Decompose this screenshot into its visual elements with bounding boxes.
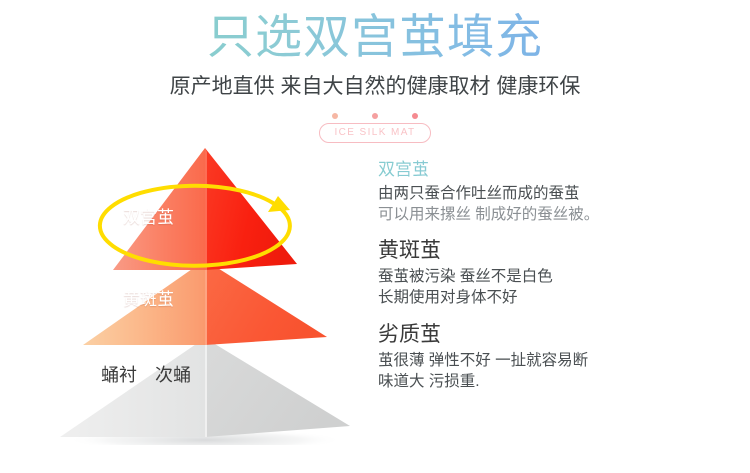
info-line: 蚕茧被污染 蚕丝不是白色 bbox=[378, 266, 678, 287]
pyramid-tier-middle bbox=[83, 260, 327, 345]
dot-icon-2 bbox=[372, 113, 378, 119]
info-line: 由两只蚕合作吐丝而成的蚕茧 bbox=[378, 183, 678, 204]
dot-icon-3 bbox=[412, 113, 418, 119]
info-heading: 双宫茧 bbox=[378, 158, 678, 182]
page-title: 只选双宫茧填充 bbox=[0, 8, 750, 66]
quality-pyramid-diagram: 双宫茧 黄斑茧 蛹衬次蛹 bbox=[35, 140, 365, 445]
info-section-liezhijian: 劣质茧 茧很薄 弹性不好 一扯就容易断 味道大 污损重. bbox=[378, 321, 678, 392]
pyramid-label-bottom-left: 蛹衬 bbox=[101, 365, 137, 385]
pyramid-label-middle: 黄斑茧 bbox=[123, 290, 174, 310]
pyramid-svg bbox=[35, 140, 365, 445]
promo-banner: 只选双宫茧填充 原产地直供 来自大自然的健康取材 健康环保 ICE SILK M… bbox=[0, 0, 750, 473]
info-line: 可以用来摞丝 制成好的蚕丝被。 bbox=[378, 204, 678, 225]
info-line: 长期使用对身体不好 bbox=[378, 287, 678, 308]
info-line: 味道大 污损重. bbox=[378, 371, 678, 392]
dot-icon-1 bbox=[332, 113, 338, 119]
info-section-shuanggongjian: 双宫茧 由两只蚕合作吐丝而成的蚕茧 可以用来摞丝 制成好的蚕丝被。 bbox=[378, 158, 678, 225]
pyramid-label-bottom: 蛹衬次蛹 bbox=[101, 365, 191, 385]
info-heading: 劣质茧 bbox=[378, 321, 678, 349]
info-line: 茧很薄 弹性不好 一扯就容易断 bbox=[378, 350, 678, 371]
info-column: 双宫茧 由两只蚕合作吐丝而成的蚕茧 可以用来摞丝 制成好的蚕丝被。 黄斑茧 蚕茧… bbox=[378, 158, 678, 401]
page-subtitle: 原产地直供 来自大自然的健康取材 健康环保 bbox=[0, 73, 750, 101]
info-heading: 黄斑茧 bbox=[378, 237, 678, 265]
pyramid-label-top: 双宫茧 bbox=[123, 208, 174, 228]
info-section-huangbanjian: 黄斑茧 蚕茧被污染 蚕丝不是白色 长期使用对身体不好 bbox=[378, 237, 678, 308]
decorative-dots bbox=[0, 113, 750, 119]
pyramid-tier-bottom bbox=[60, 338, 350, 437]
pyramid-label-bottom-right: 次蛹 bbox=[155, 365, 191, 385]
